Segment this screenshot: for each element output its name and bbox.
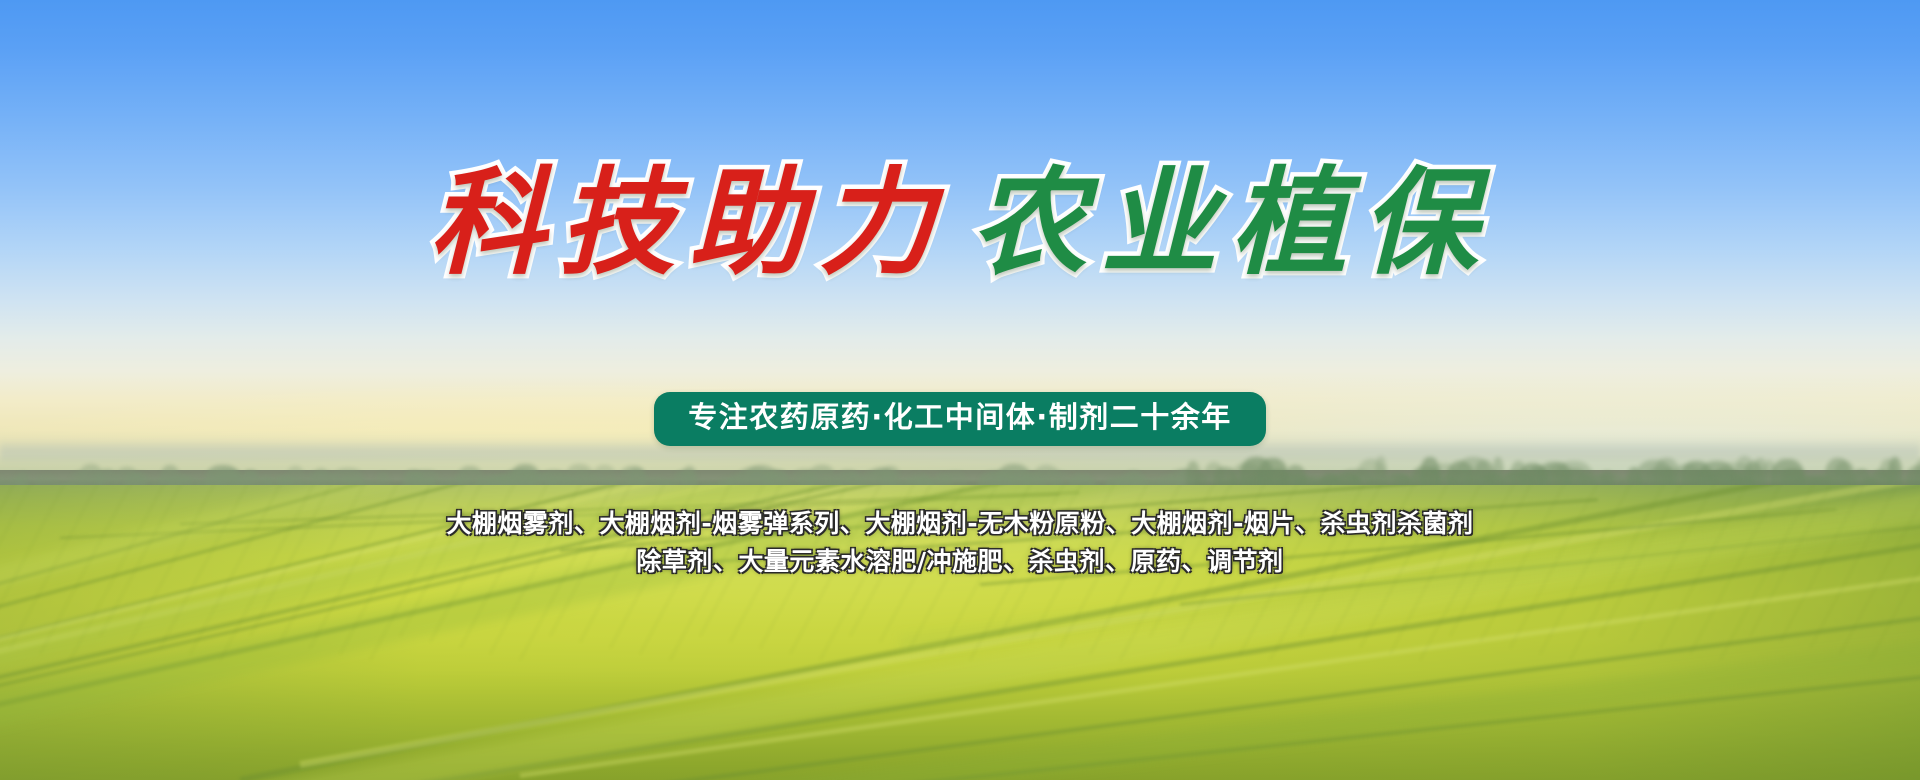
tagline-container: 专注农药原药·化工中间体·制剂二十余年 xyxy=(0,392,1920,446)
page-title: 科技助力农业植保 xyxy=(0,165,1920,281)
description-line-1: 大棚烟雾剂、大棚烟剂-烟雾弹系列、大棚烟剂-无木粉原粉、大棚烟剂-烟片、杀虫剂杀… xyxy=(0,505,1920,543)
headline-red-part: 科技助力 xyxy=(429,165,949,281)
headline-green-part: 农业植保 xyxy=(971,165,1491,281)
tagline-text: 专注农药原药·化工中间体·制剂二十余年 xyxy=(688,401,1232,434)
description-line-2: 除草剂、大量元素水溶肥/冲施肥、杀虫剂、原药、调节剂 xyxy=(0,543,1920,581)
hero-banner: 科技助力农业植保 专注农药原药·化工中间体·制剂二十余年 大棚烟雾剂、大棚烟剂-… xyxy=(0,0,1920,780)
product-description: 大棚烟雾剂、大棚烟剂-烟雾弹系列、大棚烟剂-无木粉原粉、大棚烟剂-烟片、杀虫剂杀… xyxy=(0,505,1920,581)
tagline-pill: 专注农药原药·化工中间体·制剂二十余年 xyxy=(654,392,1266,446)
